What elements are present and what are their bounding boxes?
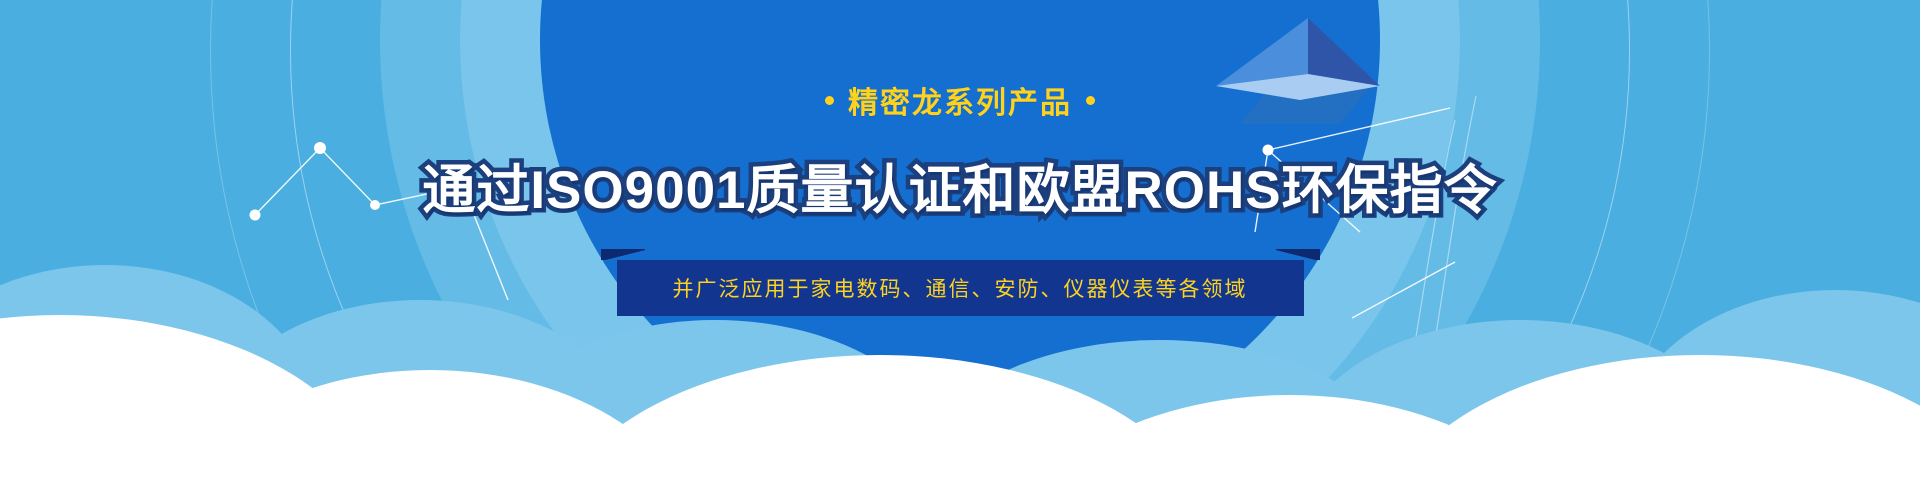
subtitle-ribbon: 并广泛应用于家电数码、通信、安防、仪器仪表等各领域 — [617, 260, 1304, 316]
bullet-dot-left-icon — [825, 96, 834, 105]
eyebrow-text: 精密龙系列产品 — [848, 78, 1072, 122]
eyebrow-line: 精密龙系列产品 — [825, 78, 1095, 122]
banner-content: 精密龙系列产品 通过ISO9001质量认证和欧盟ROHS环保指令 并广泛应用于家… — [0, 0, 1920, 480]
subtitle-text: 并广泛应用于家电数码、通信、安防、仪器仪表等各领域 — [617, 260, 1304, 316]
ribbon-tail-right — [1276, 249, 1320, 260]
bullet-dot-right-icon — [1086, 96, 1095, 105]
ribbon-tail-left — [601, 249, 645, 260]
headline-text: 通过ISO9001质量认证和欧盟ROHS环保指令 — [422, 148, 1497, 224]
promo-banner: 精密龙系列产品 通过ISO9001质量认证和欧盟ROHS环保指令 并广泛应用于家… — [0, 0, 1920, 480]
